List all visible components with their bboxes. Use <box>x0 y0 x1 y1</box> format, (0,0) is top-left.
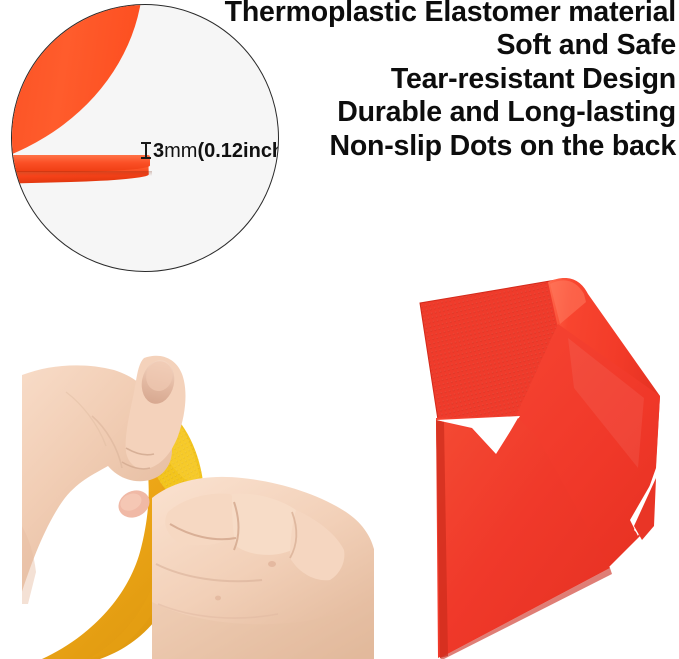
thickness-imperial: (0.12inch) <box>197 140 279 162</box>
right-hand-fist <box>152 477 374 659</box>
thickness-unit: mm <box>164 140 197 162</box>
magnifier-contents: 3mm(0.12inch) <box>12 5 278 271</box>
product-feature-graphic: Thermoplastic Elastomer material Soft an… <box>0 0 679 659</box>
thickness-value: 3 <box>153 140 164 162</box>
caliper-icon <box>141 141 151 161</box>
orange-mat-edge-thickness <box>11 155 150 172</box>
orange-mat-shadow <box>11 171 152 176</box>
thickness-dimension-label: 3mm(0.12inch) <box>153 140 279 162</box>
red-placemat-folded <box>398 268 679 659</box>
thickness-magnifier-circle: 3mm(0.12inch) <box>11 4 279 272</box>
orange-mat-corner <box>11 4 149 174</box>
hands-stretching-yellow-mat <box>22 352 374 659</box>
